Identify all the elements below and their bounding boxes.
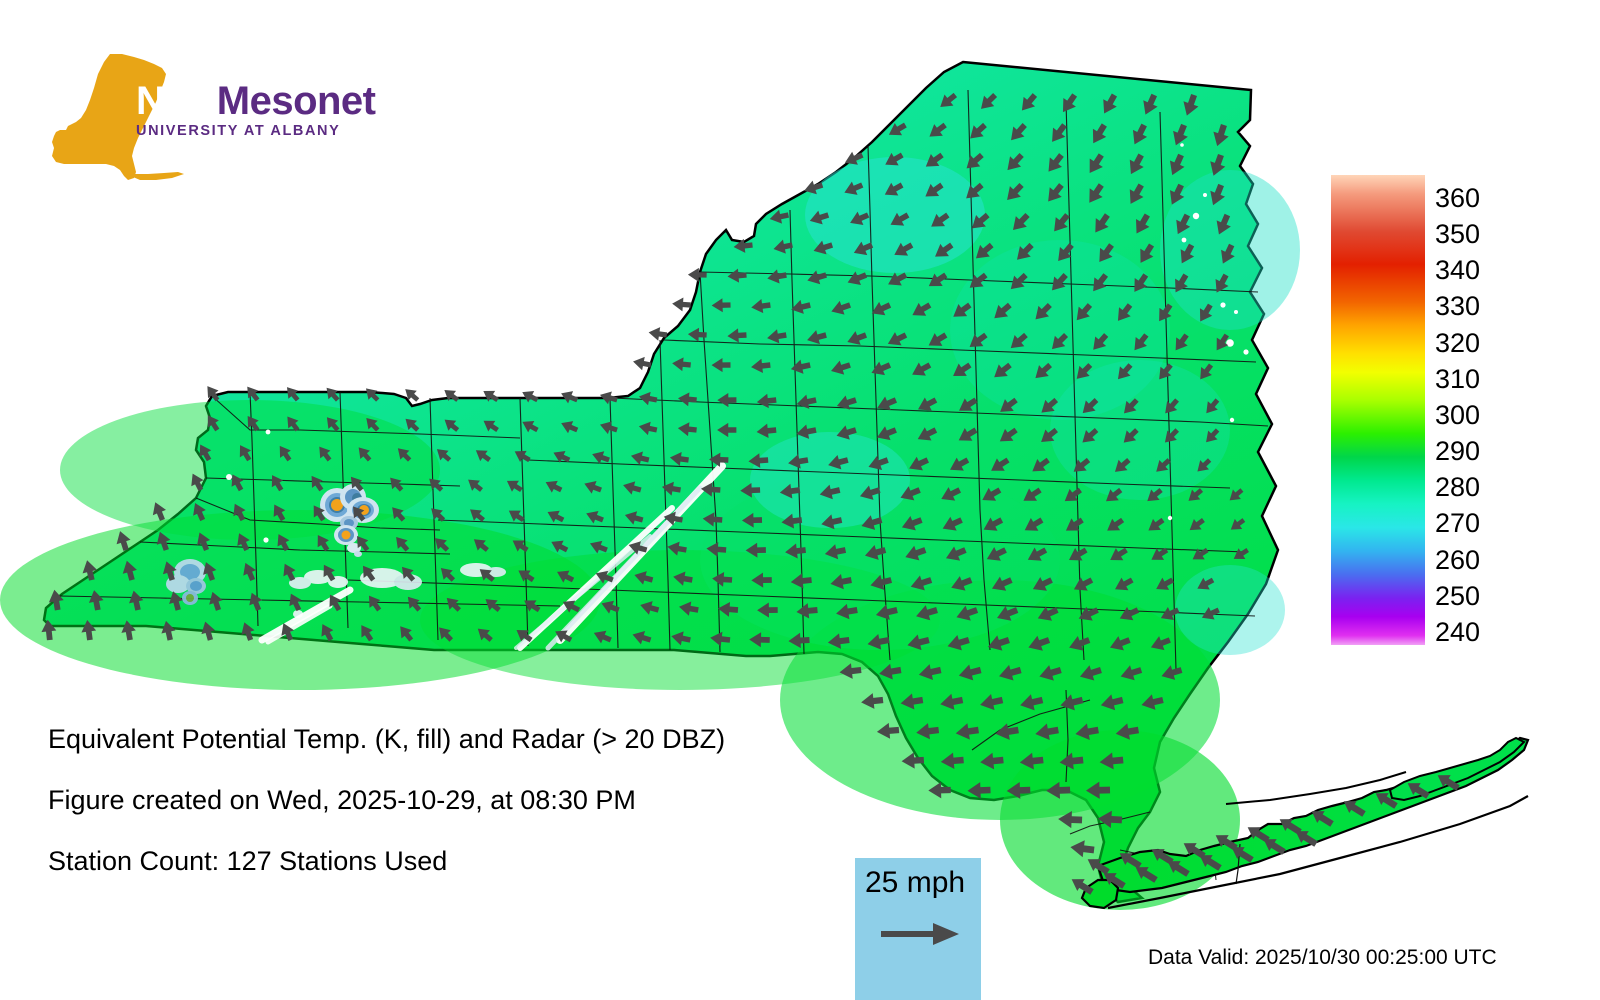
station-count-caption: Station Count: 127 Stations Used: [48, 846, 447, 877]
figure-created-caption: Figure created on Wed, 2025-10-29, at 08…: [48, 785, 636, 816]
colorbar-tick-330: 330: [1435, 293, 1480, 320]
colorbar-gradient-strip: [1331, 175, 1425, 645]
colorbar: 360350340330320310300290280270260250240: [1331, 175, 1581, 655]
wind-arrow-icon: [881, 920, 961, 948]
colorbar-tick-350: 350: [1435, 221, 1480, 248]
ny-state-body: [0, 62, 1300, 910]
colorbar-tick-340: 340: [1435, 257, 1480, 284]
colorbar-tick-280: 280: [1435, 474, 1480, 501]
colorbar-tick-260: 260: [1435, 547, 1480, 574]
colorbar-tick-360: 360: [1435, 185, 1480, 212]
wind-legend-label: 25 mph: [865, 866, 965, 900]
wind-speed-legend: 25 mph: [855, 858, 981, 1000]
colorbar-tick-310: 310: [1435, 366, 1480, 393]
colorbar-tick-270: 270: [1435, 510, 1480, 537]
colorbar-tick-290: 290: [1435, 438, 1480, 465]
data-valid-timestamp: Data Valid: 2025/10/30 00:25:00 UTC: [1148, 946, 1497, 970]
colorbar-tick-240: 240: [1435, 619, 1480, 646]
map-title-caption: Equivalent Potential Temp. (K, fill) and…: [48, 724, 725, 755]
colorbar-tick-320: 320: [1435, 330, 1480, 357]
colorbar-tick-300: 300: [1435, 402, 1480, 429]
colorbar-tick-250: 250: [1435, 583, 1480, 610]
mesonet-map-page: NYSMesonet UNIVERSITY AT ALBANY: [0, 0, 1600, 1000]
